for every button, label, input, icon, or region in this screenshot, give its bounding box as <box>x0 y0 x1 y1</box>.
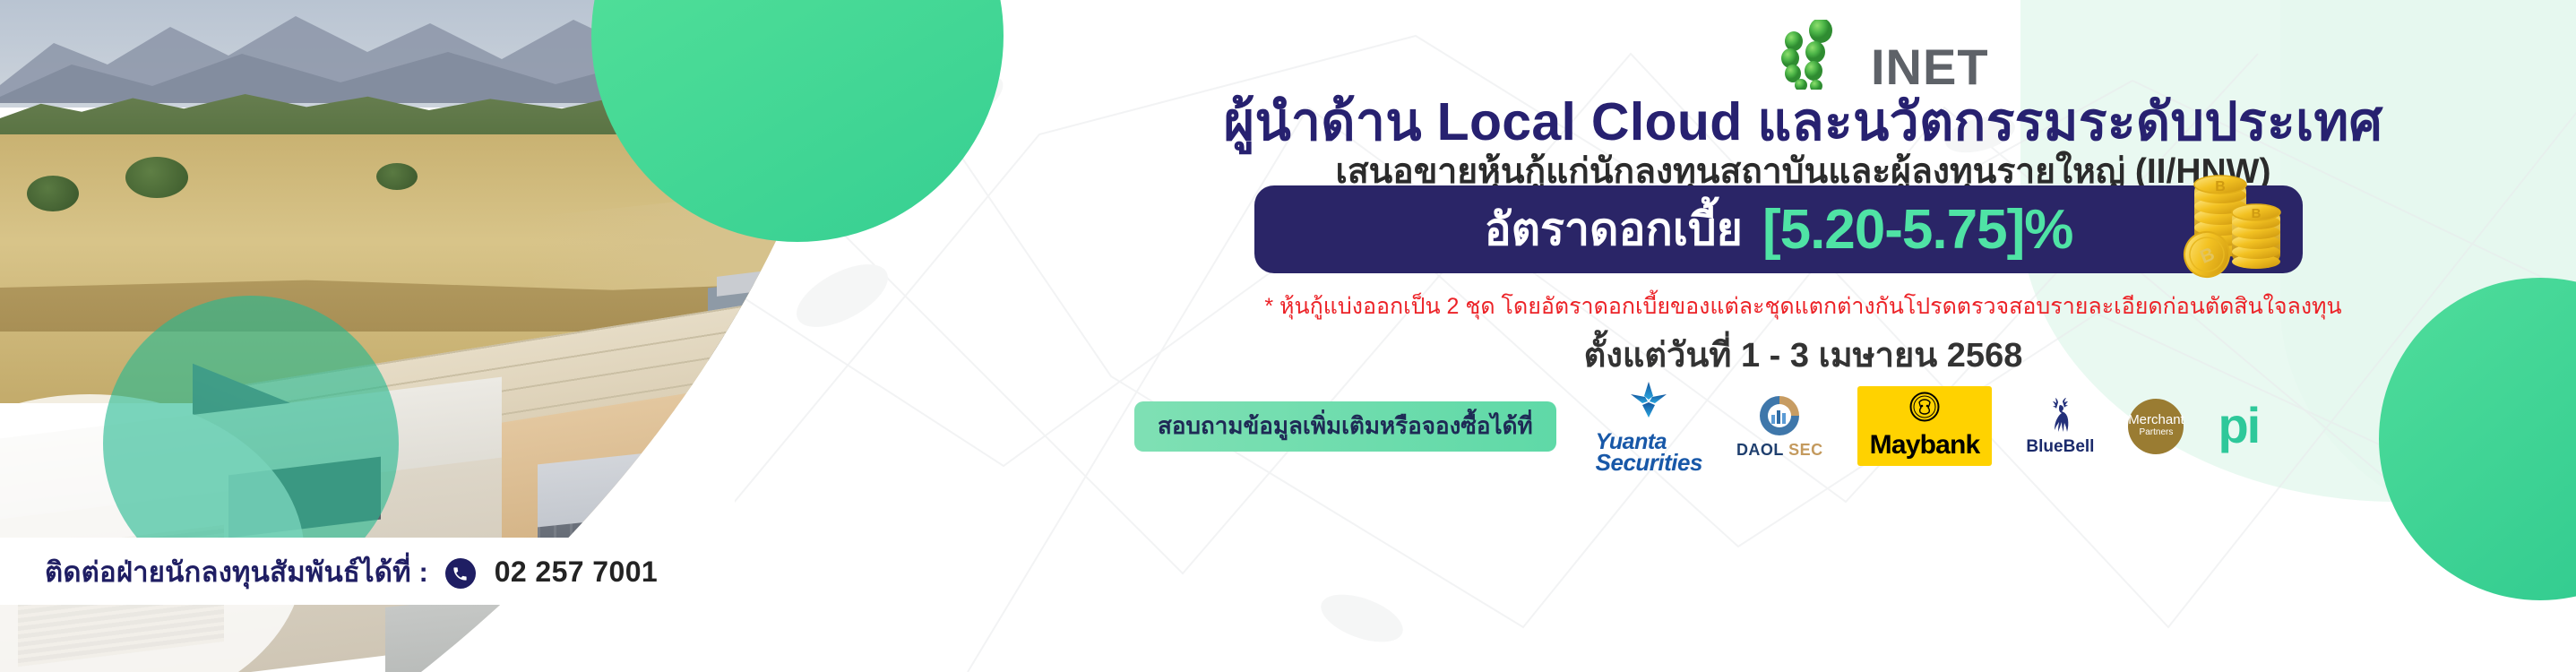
partner-pi[interactable]: pi <box>2218 406 2259 446</box>
phone-number[interactable]: 02 257 7001 <box>495 556 658 588</box>
svg-text:B: B <box>2215 179 2226 194</box>
phone-icon <box>445 558 476 589</box>
maybank-wordmark: Maybank <box>1870 430 1980 461</box>
offering-note: * หุ้นกู้แบ่งออกเป็น 2 ชุด โดยอัตราดอกเบ… <box>1030 289 2576 324</box>
date-range: ตั้งแต่วันที่ 1 - 3 เมษายน 2568 <box>1030 327 2576 382</box>
partner-daol[interactable]: DAOL SEC <box>1736 393 1823 460</box>
merchant-circle-icon: Merchant Partners <box>2128 399 2184 454</box>
maybank-tiger-icon <box>1909 392 1940 422</box>
daol-circle-icon <box>1756 393 1803 438</box>
bluebell-deer-icon <box>2040 396 2080 435</box>
partner-merchant[interactable]: Merchant Partners <box>2128 399 2184 454</box>
yuanta-star-icon <box>1627 378 1670 421</box>
partner-logos: Yuanta Securities DAOL <box>1596 378 2260 474</box>
partner-maybank[interactable]: Maybank <box>1857 386 1993 466</box>
daol-line1: DAOL <box>1736 441 1784 459</box>
merchant-line2: Partners <box>2140 426 2174 439</box>
svg-text:B: B <box>2252 206 2262 221</box>
merchant-line1: Merchant <box>2128 413 2184 426</box>
interest-rate-value: [5.20-5.75]% <box>1762 198 2072 262</box>
contact-line: ติดต่อฝ่ายนักลงทุนสัมพันธ์ได้ที่ : 02 25… <box>45 549 658 594</box>
investor-relations-contact-bar: ติดต่อฝ่ายนักลงทุนสัมพันธ์ได้ที่ : 02 25… <box>0 538 811 605</box>
daol-line2: SEC <box>1788 441 1823 459</box>
partner-yuanta[interactable]: Yuanta Securities <box>1596 378 1702 474</box>
interest-rate-label: อัตราดอกเบี้ย <box>1485 194 1743 265</box>
yuanta-line2: Securities <box>1596 452 1702 474</box>
pi-wordmark-icon: pi <box>2218 406 2259 446</box>
contact-label: ติดต่อฝ่ายนักลงทุนสัมพันธ์ได้ที่ : <box>45 556 428 588</box>
partner-bluebell[interactable]: BlueBell <box>2026 396 2094 457</box>
interest-rate-box: อัตราดอกเบี้ย [5.20-5.75]% <box>1254 185 2303 273</box>
partners-row: สอบถามข้อมูลเพิ่มเติมหรือจองซื้อได้ที่ <box>1030 392 2576 460</box>
bluebell-wordmark: BlueBell <box>2026 437 2094 457</box>
inet-bond-offering-banner: ติดต่อฝ่ายนักลงทุนสัมพันธ์ได้ที่ : 02 25… <box>0 0 2576 672</box>
gold-coins-icon: B B B <box>2173 159 2298 285</box>
enquire-button[interactable]: สอบถามข้อมูลเพิ่มเติมหรือจองซื้อได้ที่ <box>1134 401 1556 452</box>
content-column: INET ผู้นำด้าน Local Cloud และนวัตกรรมระ… <box>1030 0 2576 672</box>
